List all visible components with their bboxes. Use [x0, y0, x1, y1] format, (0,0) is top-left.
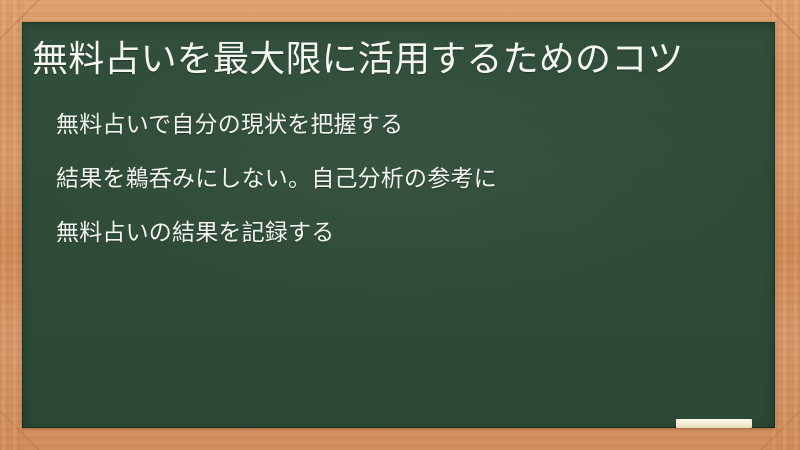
chalk-stick — [676, 419, 752, 428]
bullet-item-1: 無料占いで自分の現状を把握する — [30, 110, 759, 138]
blackboard-surface: 無料占いを最大限に活用するためのコツ 無料占いで自分の現状を把握する 結果を鵜呑… — [22, 22, 775, 428]
bullet-list: 無料占いで自分の現状を把握する 結果を鵜呑みにしない。自己分析の参考に 無料占い… — [30, 110, 759, 246]
slide-title: 無料占いを最大限に活用するためのコツ — [30, 36, 759, 82]
board-content: 無料占いを最大限に活用するためのコツ 無料占いで自分の現状を把握する 結果を鵜呑… — [22, 22, 775, 428]
bullet-item-3: 無料占いの結果を記録する — [30, 218, 759, 246]
blackboard-slide: 無料占いを最大限に活用するためのコツ 無料占いで自分の現状を把握する 結果を鵜呑… — [0, 0, 800, 450]
bullet-item-2: 結果を鵜呑みにしない。自己分析の参考に — [30, 164, 759, 192]
